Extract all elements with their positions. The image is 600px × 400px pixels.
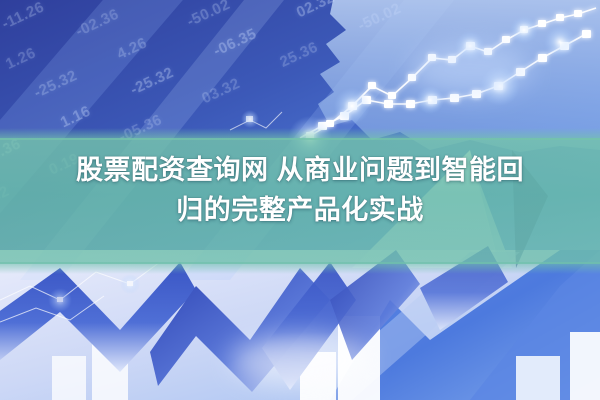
finance-banner: -02.36 +5.02 -11.26 -02.36 45.02 21.05 -…: [0, 0, 600, 400]
headline-line-1: 股票配资查询网 从商业问题到智能回: [18, 150, 582, 190]
page-title: 股票配资查询网 从商业问题到智能回 归的完整产品化实战: [0, 150, 600, 230]
headline-line-2: 归的完整产品化实战: [18, 190, 582, 230]
